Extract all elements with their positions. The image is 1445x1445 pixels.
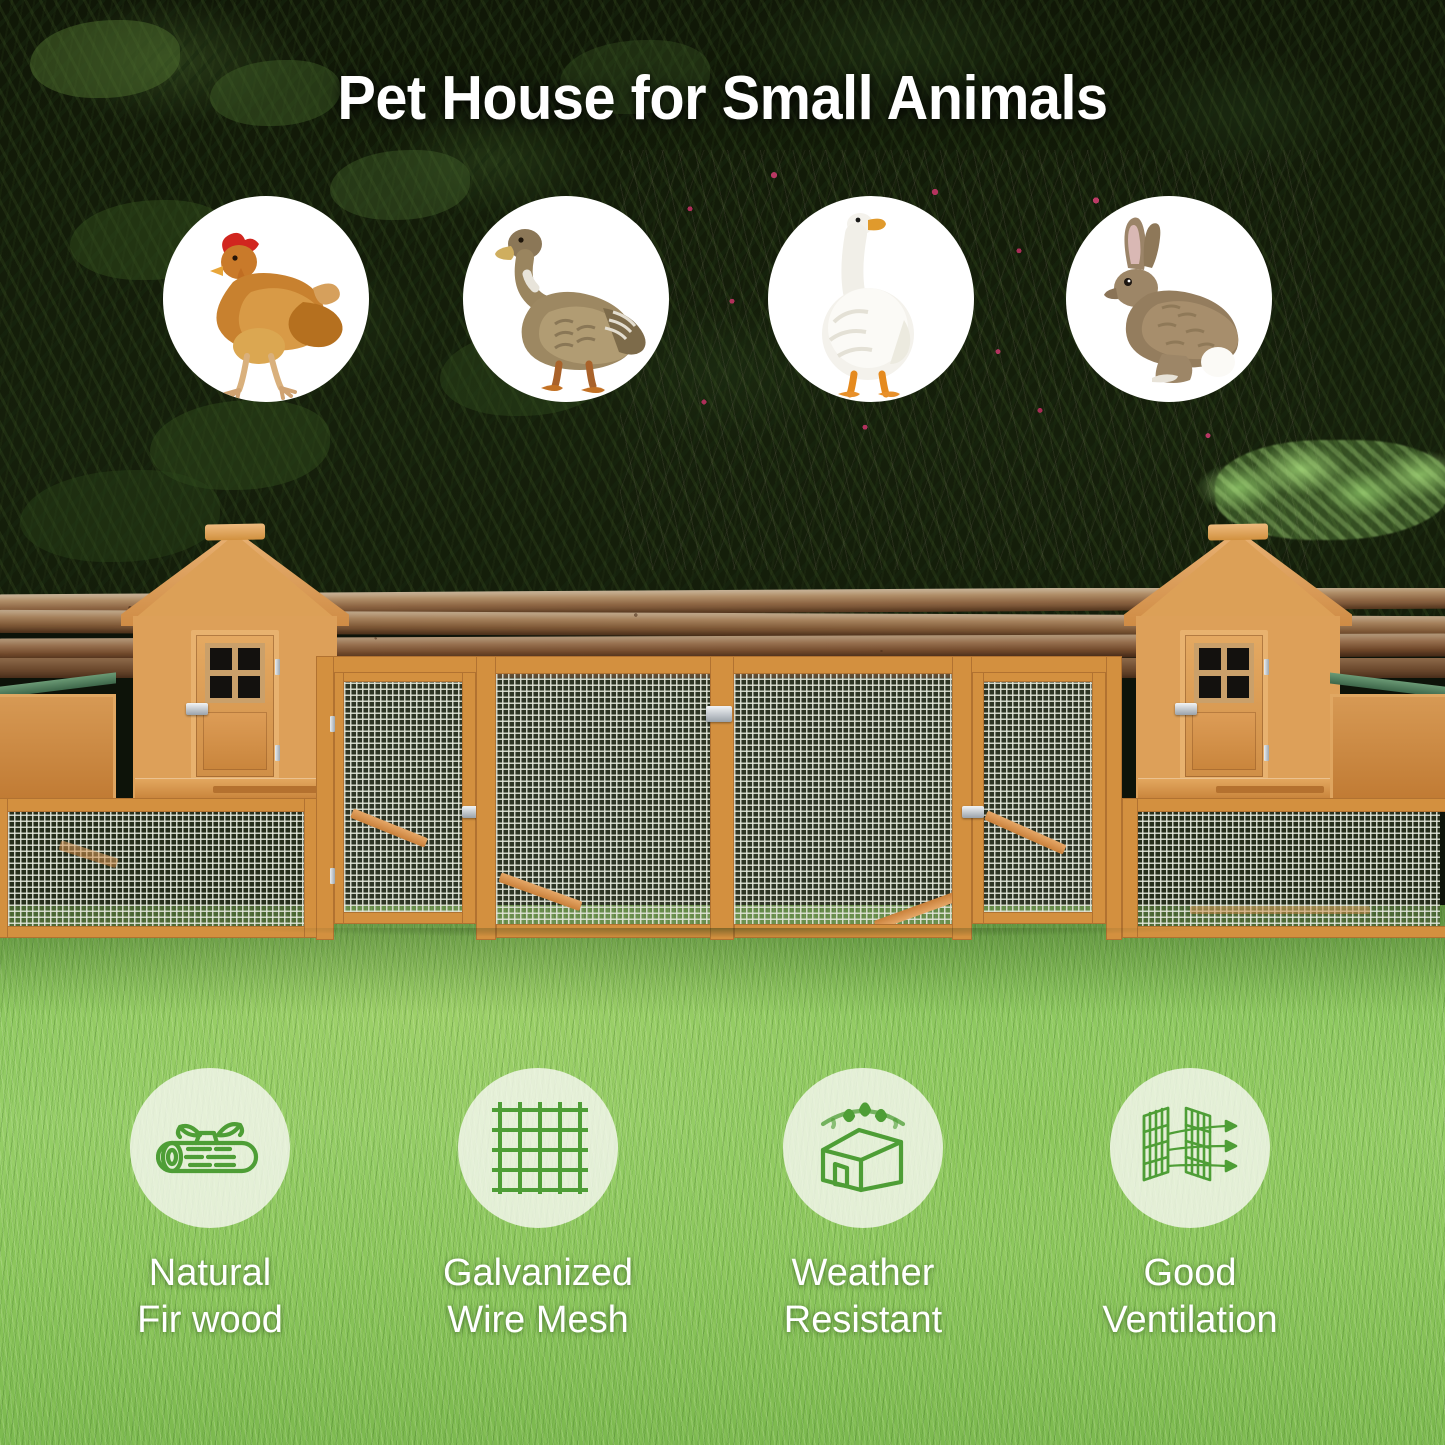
animal-circle-goose bbox=[768, 196, 974, 402]
roof-ridge-cap-right bbox=[1208, 523, 1268, 540]
run-mesh-bay-1 bbox=[344, 682, 462, 912]
nest-tray-right[interactable] bbox=[1138, 778, 1336, 800]
house-door-left[interactable] bbox=[191, 630, 279, 782]
animal-circle-row bbox=[0, 196, 1445, 402]
run-door-1-bottom bbox=[334, 912, 476, 924]
weather-house-icon bbox=[809, 1098, 917, 1198]
gable-front-right bbox=[1136, 534, 1340, 620]
feature-icon-circle-3 bbox=[1110, 1068, 1270, 1228]
run-door-1-right bbox=[462, 672, 476, 924]
run-door-2-latch[interactable] bbox=[962, 806, 984, 818]
run-center-latch[interactable] bbox=[706, 706, 732, 722]
run-door-1-hinge-top bbox=[330, 716, 335, 732]
door-hinge-bottom-right bbox=[1264, 745, 1269, 761]
run-post-right-inner bbox=[1122, 798, 1138, 938]
roof-ridge-cap-left bbox=[205, 523, 265, 540]
door-window-right bbox=[1194, 643, 1254, 703]
door-hinge-top-left bbox=[275, 659, 280, 675]
chicken-icon bbox=[163, 196, 369, 402]
run-door-2-top bbox=[972, 672, 1106, 682]
nesting-box-face-right bbox=[1330, 694, 1445, 802]
feature-good-ventilation: Good Ventilation bbox=[1040, 1068, 1340, 1344]
door-latch-left[interactable] bbox=[186, 703, 208, 715]
run-rail-top-left bbox=[0, 798, 320, 812]
door-latch-right[interactable] bbox=[1175, 703, 1197, 715]
run-post-center bbox=[710, 656, 734, 940]
house-door-right[interactable] bbox=[1180, 630, 1268, 782]
chicken-coop-product bbox=[0, 520, 1445, 940]
door-hinge-top-right bbox=[1264, 659, 1269, 675]
feature-label-2: Weather Resistant bbox=[713, 1250, 1013, 1344]
run-post-far-left bbox=[0, 798, 8, 938]
run-rail-top-right bbox=[1122, 798, 1445, 812]
feature-label-3: Good Ventilation bbox=[1040, 1250, 1340, 1344]
duck-icon bbox=[463, 196, 669, 402]
run-mesh-bay-3 bbox=[734, 674, 952, 926]
page-title: Pet House for Small Animals bbox=[51, 64, 1395, 133]
feature-icon-circle-1 bbox=[458, 1068, 618, 1228]
run-mesh-left bbox=[8, 812, 308, 930]
feature-weather-resistant: Weather Resistant bbox=[713, 1068, 1013, 1344]
door-lower-panel-right bbox=[1192, 712, 1256, 770]
run-door-1-left bbox=[334, 672, 344, 924]
feature-icon-circle-2 bbox=[783, 1068, 943, 1228]
nesting-box-left bbox=[0, 680, 116, 802]
nesting-box-face-left bbox=[0, 694, 116, 802]
nesting-box-right bbox=[1330, 680, 1445, 802]
product-marketing-image: Pet House for Small Animals bbox=[0, 0, 1445, 1445]
run-door-1-top bbox=[334, 672, 476, 682]
run-door-1-hinge-bottom bbox=[330, 868, 335, 884]
wood-log-icon bbox=[156, 1105, 264, 1191]
rabbit-icon bbox=[1066, 196, 1272, 402]
goose-icon bbox=[768, 196, 974, 402]
feature-icon-circle-0 bbox=[130, 1068, 290, 1228]
door-window-left bbox=[205, 643, 265, 703]
animal-circle-rabbit bbox=[1066, 196, 1272, 402]
nest-tray-left[interactable] bbox=[135, 778, 333, 800]
door-lower-panel-left bbox=[203, 712, 267, 770]
ramp-right bbox=[1190, 906, 1370, 914]
feature-galvanized-wire-mesh: Galvanized Wire Mesh bbox=[388, 1068, 688, 1344]
feature-label-1: Galvanized Wire Mesh bbox=[388, 1250, 688, 1344]
run-post-2 bbox=[476, 656, 496, 940]
run-door-2-bottom bbox=[972, 912, 1106, 924]
run-post-1 bbox=[316, 656, 334, 940]
run-mesh-bay-4 bbox=[982, 682, 1092, 912]
feature-natural-fir-wood: Natural Fir wood bbox=[60, 1068, 360, 1344]
run-post-3 bbox=[952, 656, 972, 940]
feature-row: Natural Fir wood Galvanized Wire Mesh bbox=[0, 1068, 1445, 1398]
run-door-2-right bbox=[1092, 672, 1106, 924]
wire-mesh-icon bbox=[488, 1098, 588, 1198]
animal-circle-chicken bbox=[163, 196, 369, 402]
run-door-2-left bbox=[972, 672, 984, 924]
gable-front-left bbox=[133, 534, 337, 620]
animal-circle-duck bbox=[463, 196, 669, 402]
coop-ground-shadow bbox=[0, 928, 1445, 950]
door-hinge-bottom-left bbox=[275, 745, 280, 761]
air-flow-icon bbox=[1134, 1100, 1246, 1196]
feature-label-0: Natural Fir wood bbox=[60, 1250, 360, 1344]
